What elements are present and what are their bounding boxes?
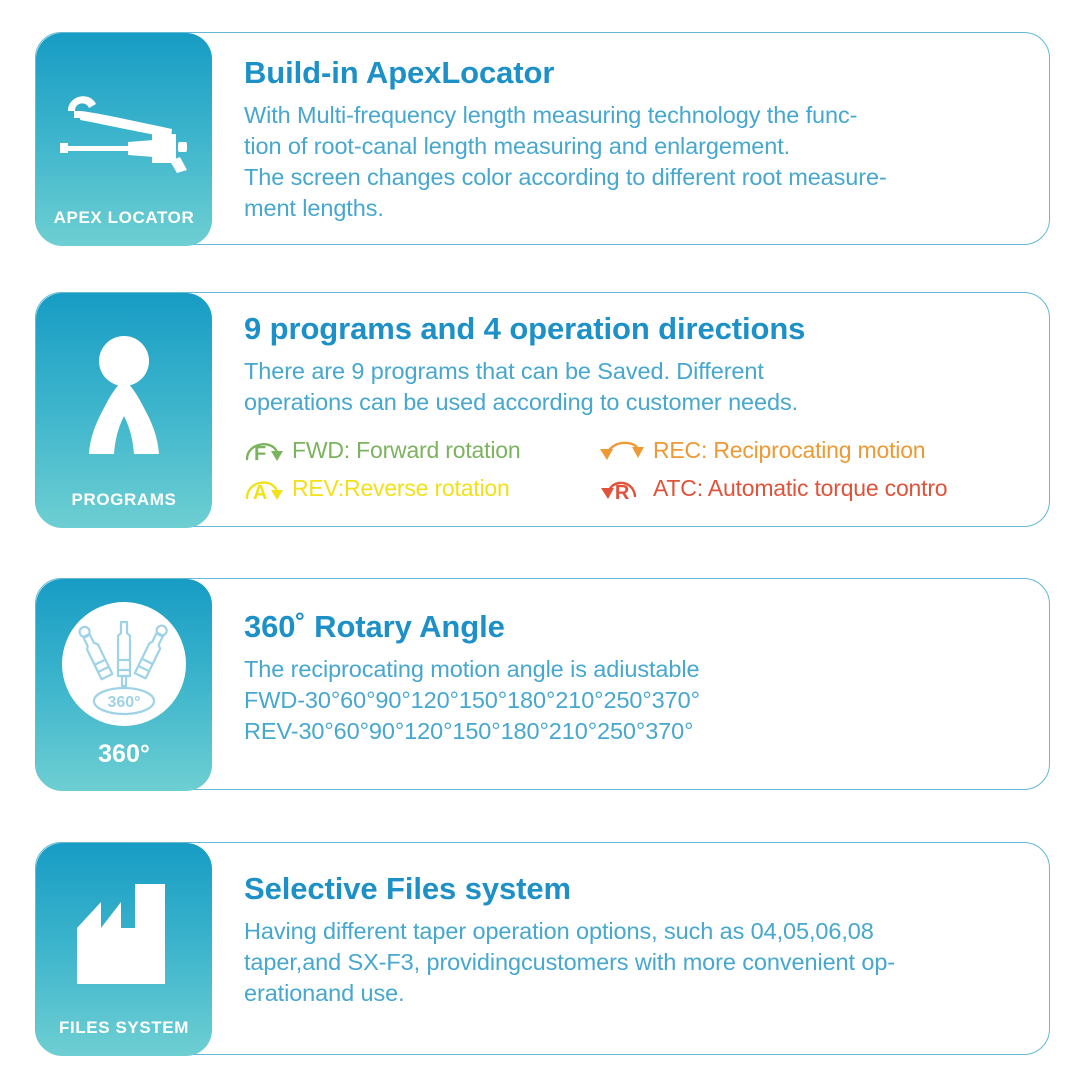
legend-label-fwd: FWD: Forward rotation — [292, 437, 520, 464]
icon-label-rotary-angle: 360° — [36, 740, 212, 791]
apex-locator-handpiece-icon — [36, 33, 212, 208]
card-title-rotary-angle: 360˚ Rotary Angle — [244, 611, 1031, 644]
card-title-apex-locator: Build-in ApexLocator — [244, 57, 1031, 90]
svg-text:R: R — [615, 482, 630, 504]
svg-text:F: F — [254, 443, 266, 465]
card-desc-rotary-angle: The reciprocating motion angle is adiust… — [244, 654, 1031, 748]
programs-person-icon — [36, 293, 212, 490]
feature-card-rotary-angle: 360° 360° 360˚ Rotary Angle The reciproc… — [35, 578, 1050, 790]
icon-tile-programs: PROGRAMS — [36, 293, 212, 528]
card-title-files-system: Selective Files system — [244, 873, 1031, 906]
legend-label-atc: ATC: Automatic torque contro — [653, 475, 947, 502]
feature-card-programs: PROGRAMS 9 programs and 4 operation dire… — [35, 292, 1050, 527]
legend-item-rec: REC: Reciprocating motion — [599, 434, 1031, 466]
card-desc-apex-locator: With Multi-frequency length measuring te… — [244, 100, 1031, 225]
feature-card-files-system: FILES SYSTEM Selective Files system Havi… — [35, 842, 1050, 1055]
card-desc-programs: There are 9 programs that can be Saved. … — [244, 356, 1031, 419]
legend-label-rec: REC: Reciprocating motion — [653, 437, 925, 464]
operation-directions-legend: F FWD: Forward rotation REC: Reciprocati… — [244, 434, 1031, 504]
icon-tile-apex-locator: APEX LOCATOR — [36, 33, 212, 246]
reverse-rotation-arc-icon: A — [244, 472, 284, 504]
legend-item-fwd: F FWD: Forward rotation — [244, 434, 599, 466]
card-body-apex-locator: Build-in ApexLocator With Multi-frequenc… — [244, 57, 1031, 225]
legend-item-atc: R ATC: Automatic torque contro — [599, 472, 1031, 504]
feature-card-apex-locator: APEX LOCATOR Build-in ApexLocator With M… — [35, 32, 1050, 245]
reciprocating-motion-arc-icon — [599, 434, 645, 466]
icon-label-files-system: FILES SYSTEM — [36, 1018, 212, 1056]
feature-list-page: APEX LOCATOR Build-in ApexLocator With M… — [0, 0, 1080, 1080]
card-body-programs: 9 programs and 4 operation directions Th… — [244, 313, 1031, 504]
card-desc-files-system: Having different taper operation options… — [244, 916, 1031, 1010]
legend-item-rev: A REV:Reverse rotation — [244, 472, 599, 504]
icon-badge-360: 360° — [107, 694, 140, 711]
forward-rotation-arc-icon: F — [244, 434, 284, 466]
svg-text:A: A — [253, 482, 267, 504]
card-body-files-system: Selective Files system Having different … — [244, 873, 1031, 1009]
legend-label-rev: REV:Reverse rotation — [292, 475, 510, 502]
automatic-torque-control-arc-icon: R — [599, 472, 645, 504]
icon-tile-files-system: FILES SYSTEM — [36, 843, 212, 1056]
files-system-factory-icon — [36, 843, 212, 1018]
card-title-programs: 9 programs and 4 operation directions — [244, 313, 1031, 346]
icon-label-programs: PROGRAMS — [36, 490, 212, 528]
icon-label-apex-locator: APEX LOCATOR — [36, 208, 212, 246]
card-body-rotary-angle: 360˚ Rotary Angle The reciprocating moti… — [244, 611, 1031, 747]
icon-tile-rotary-angle: 360° 360° — [36, 579, 212, 791]
rotary-angle-handpieces-icon: 360° — [36, 579, 212, 740]
